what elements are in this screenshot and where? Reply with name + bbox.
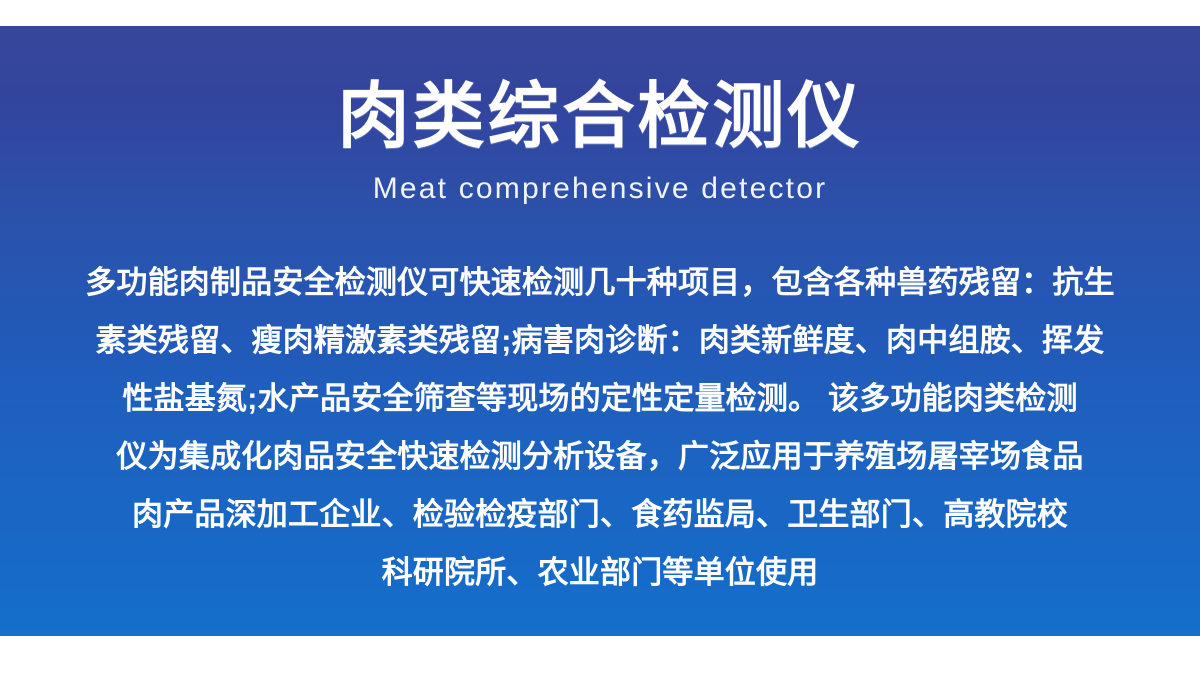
page-subtitle: Meat comprehensive detector	[0, 170, 1200, 208]
description-line-5: 肉产品深加工企业、检验检疫部门、食药监局、卫生部门、高教院校	[0, 486, 1200, 544]
description-line-1: 多功能肉制品安全检测仪可快速检测几十种项目，包含各种兽药残留：抗生	[0, 254, 1200, 312]
description-line-2: 素类残留、瘦肉精激素类残留;病害肉诊断：肉类新鲜度、肉中组胺、挥发	[0, 312, 1200, 370]
banner-content: 肉类综合检测仪 Meat comprehensive detector 多功能肉…	[0, 26, 1200, 636]
description-line-6: 科研院所、农业部门等单位使用	[0, 544, 1200, 602]
product-banner-page: 肉类综合检测仪 Meat comprehensive detector 多功能肉…	[0, 0, 1200, 681]
description-line-3: 性盐基氮;水产品安全筛查等现场的定性定量检测。 该多功能肉类检测	[0, 370, 1200, 428]
description-block: 多功能肉制品安全检测仪可快速检测几十种项目，包含各种兽药残留：抗生 素类残留、瘦…	[0, 254, 1200, 602]
blue-gradient-banner: 肉类综合检测仪 Meat comprehensive detector 多功能肉…	[0, 26, 1200, 636]
description-line-4: 仪为集成化肉品安全快速检测分析设备，广泛应用于养殖场屠宰场食品	[0, 428, 1200, 486]
page-title: 肉类综合检测仪	[0, 74, 1200, 160]
title-block: 肉类综合检测仪 Meat comprehensive detector	[0, 74, 1200, 208]
